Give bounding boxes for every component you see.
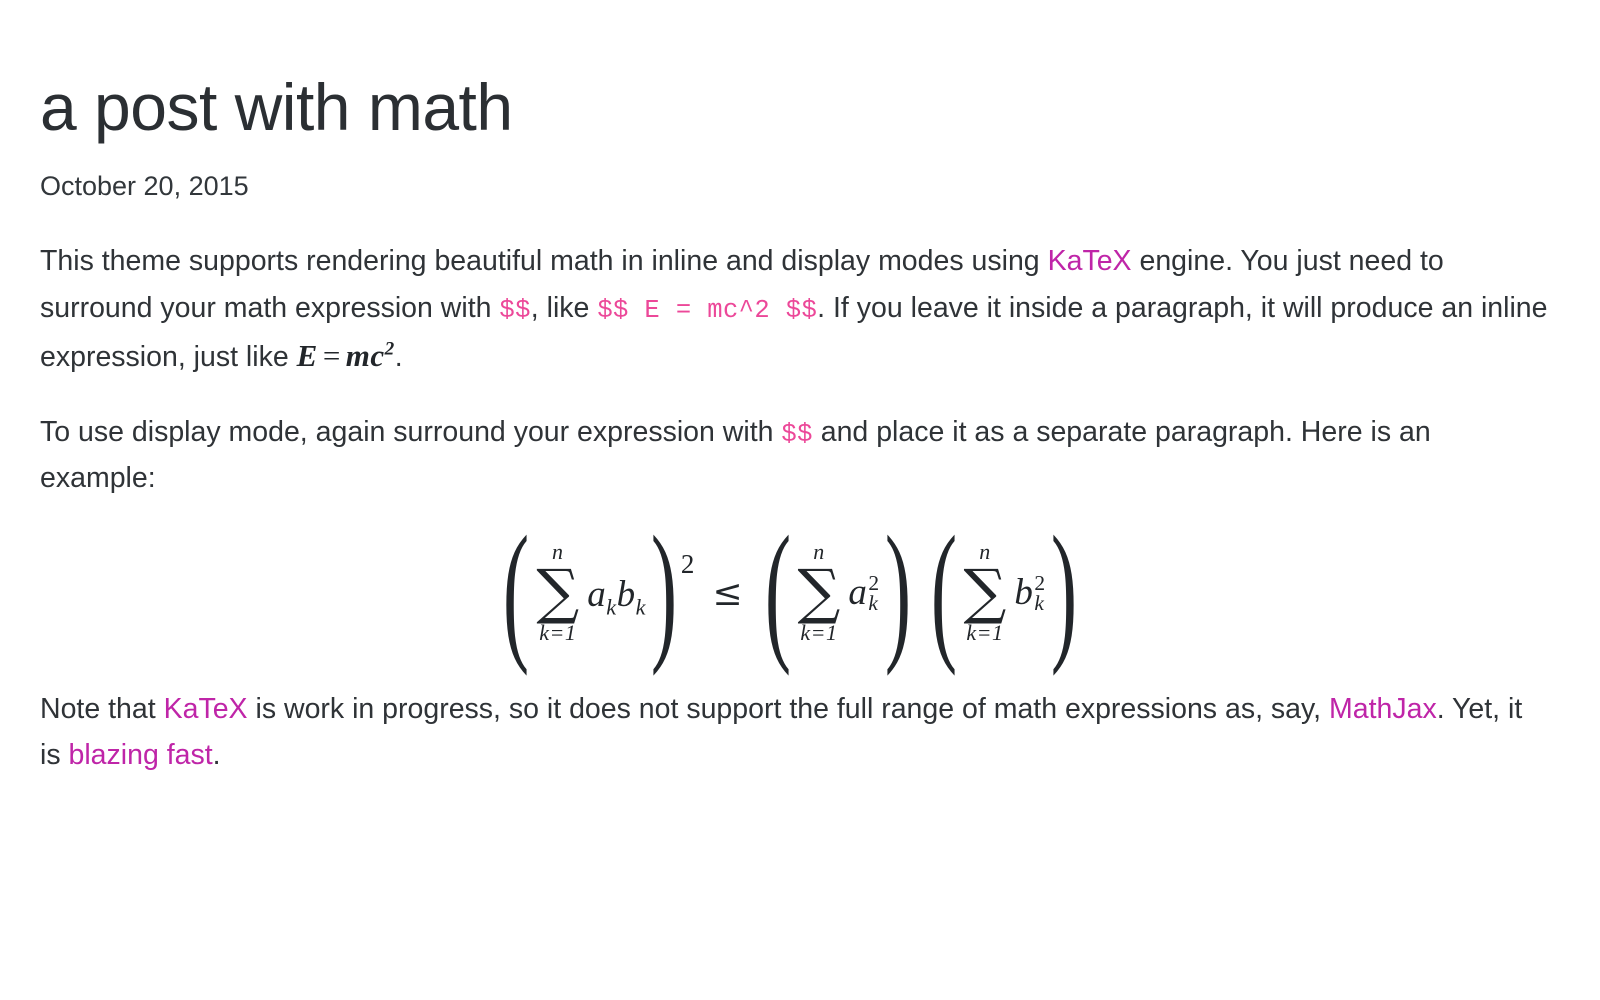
equation-group-rhs-b: ( n ∑ k=1 b2k ): [928, 541, 1080, 643]
link-katex[interactable]: KaTeX: [1048, 245, 1132, 277]
paragraph-note: Note that KaTeX is work in progress, so …: [40, 686, 1550, 778]
math-exponent-2: 2: [385, 338, 395, 359]
paren-right-icon: ): [1051, 531, 1077, 652]
link-katex[interactable]: KaTeX: [164, 693, 248, 725]
paragraph-display-mode: To use display mode, again surround your…: [40, 409, 1550, 501]
cauchy-schwarz-equation: ( n ∑ k=1 akbk ) 2 ≤ ( n ∑: [500, 541, 1079, 643]
sub-k: k: [606, 594, 616, 619]
var-a: a: [848, 572, 867, 613]
sub-k: k: [1034, 593, 1044, 615]
math-var-E: E: [297, 338, 318, 373]
var-b: b: [617, 574, 636, 615]
paren-left-icon: (: [930, 531, 956, 652]
paren-right-icon: ): [884, 531, 910, 652]
code-dollar-delimiters: $$: [781, 420, 812, 449]
text-segment: .: [213, 739, 221, 771]
text-segment: Note that: [40, 693, 164, 725]
paragraph-intro: This theme supports rendering beautiful …: [40, 238, 1550, 381]
sub-sup-stack: 2k: [868, 573, 879, 617]
post-date: October 20, 2015: [40, 169, 1550, 204]
code-math-example: $$ E = mc^2 $$: [597, 296, 817, 325]
sum-lower-limit: k=1: [800, 622, 837, 644]
code-dollar-delimiters: $$: [499, 296, 530, 325]
post-page: a post with math October 20, 2015 This t…: [0, 0, 1600, 778]
term-bk-squared: b2k: [1014, 571, 1045, 617]
var-a: a: [587, 574, 606, 615]
summation-lhs: n ∑ k=1: [536, 541, 579, 643]
math-var-mc: mc: [346, 338, 385, 373]
math-equals-sign: =: [318, 338, 346, 373]
text-segment: .: [395, 341, 403, 373]
page-title: a post with math: [40, 72, 1550, 143]
link-mathjax[interactable]: MathJax: [1329, 693, 1437, 725]
paren-left-icon: (: [503, 531, 529, 652]
equation-group-lhs: ( n ∑ k=1 akbk ) 2: [500, 541, 693, 643]
outer-exponent-2: 2: [681, 549, 695, 580]
term-ak-bk: akbk: [587, 573, 646, 616]
summation-rhs-a: n ∑ k=1: [798, 541, 841, 643]
text-segment: This theme supports rendering beautiful …: [40, 245, 1048, 277]
sum-lower-limit: k=1: [539, 622, 576, 644]
relation-less-equal: ≤: [712, 573, 742, 614]
display-math-block: ( n ∑ k=1 akbk ) 2 ≤ ( n ∑: [40, 541, 1550, 643]
link-blazing-fast[interactable]: blazing fast: [69, 739, 213, 771]
text-segment: To use display mode, again surround your…: [40, 416, 781, 448]
inline-math-emc2: E=mc2: [297, 338, 395, 373]
text-segment: is work in progress, so it does not supp…: [248, 693, 1329, 725]
var-b: b: [1014, 572, 1033, 613]
sigma-icon: ∑: [798, 565, 841, 620]
sigma-icon: ∑: [536, 565, 579, 620]
paren-right-icon: ): [651, 531, 677, 652]
sigma-icon: ∑: [964, 565, 1007, 620]
paren-left-icon: (: [764, 531, 790, 652]
summation-rhs-b: n ∑ k=1: [964, 541, 1007, 643]
sub-k: k: [636, 594, 646, 619]
equation-group-rhs-a: ( n ∑ k=1 a2k ): [762, 541, 914, 643]
term-ak-squared: a2k: [848, 571, 879, 617]
sub-sup-stack: 2k: [1034, 573, 1045, 617]
post-body: This theme supports rendering beautiful …: [40, 238, 1550, 778]
text-segment: , like: [531, 292, 598, 324]
sum-lower-limit: k=1: [966, 622, 1003, 644]
sub-k: k: [868, 593, 878, 615]
